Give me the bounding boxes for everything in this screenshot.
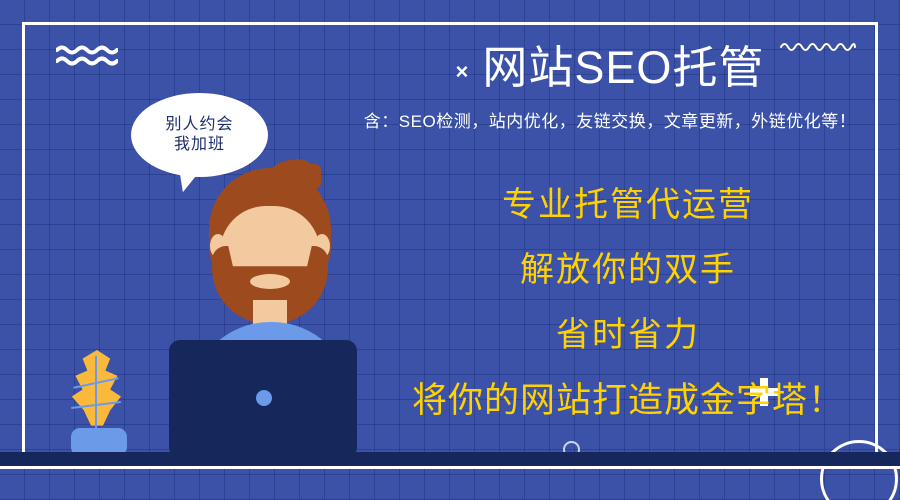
desk-edge-highlight xyxy=(0,466,900,469)
x-mark-icon: × xyxy=(456,61,469,83)
selling-point: 专业托管代运营 xyxy=(378,188,878,222)
selling-point: 将你的网站打造成金字塔！ xyxy=(378,383,878,418)
leaf-vein-main xyxy=(95,356,97,436)
potted-plant xyxy=(55,350,145,460)
wave-lines-icon xyxy=(56,44,118,66)
laptop-logo-dot xyxy=(256,390,272,406)
headline-block: × 网站SEO托管 含：SEO检测，站内优化，友链交换，文章更新，外链优化等！ xyxy=(330,44,890,132)
title-row: × 网站SEO托管 xyxy=(330,44,890,93)
speech-bubble-line: 我加班 xyxy=(174,135,225,155)
mouth xyxy=(250,274,290,289)
selling-point: 省时省力 xyxy=(378,318,878,352)
plant-leaf xyxy=(67,350,127,436)
selling-point: 解放你的双手 xyxy=(378,253,878,287)
seo-hosting-banner: × 网站SEO托管 含：SEO检测，站内优化，友链交换，文章更新，外链优化等！ … xyxy=(0,0,900,500)
hair-quiff-tip xyxy=(295,164,321,190)
page-subtitle: 含：SEO检测，站内优化，友链交换，文章更新，外链优化等！ xyxy=(330,107,890,132)
selling-points-list: 专业托管代运营 解放你的双手 省时省力 将你的网站打造成金字塔！ xyxy=(378,188,878,418)
page-title: 网站SEO托管 xyxy=(482,44,764,93)
speech-bubble-line: 别人约会 xyxy=(165,115,233,135)
